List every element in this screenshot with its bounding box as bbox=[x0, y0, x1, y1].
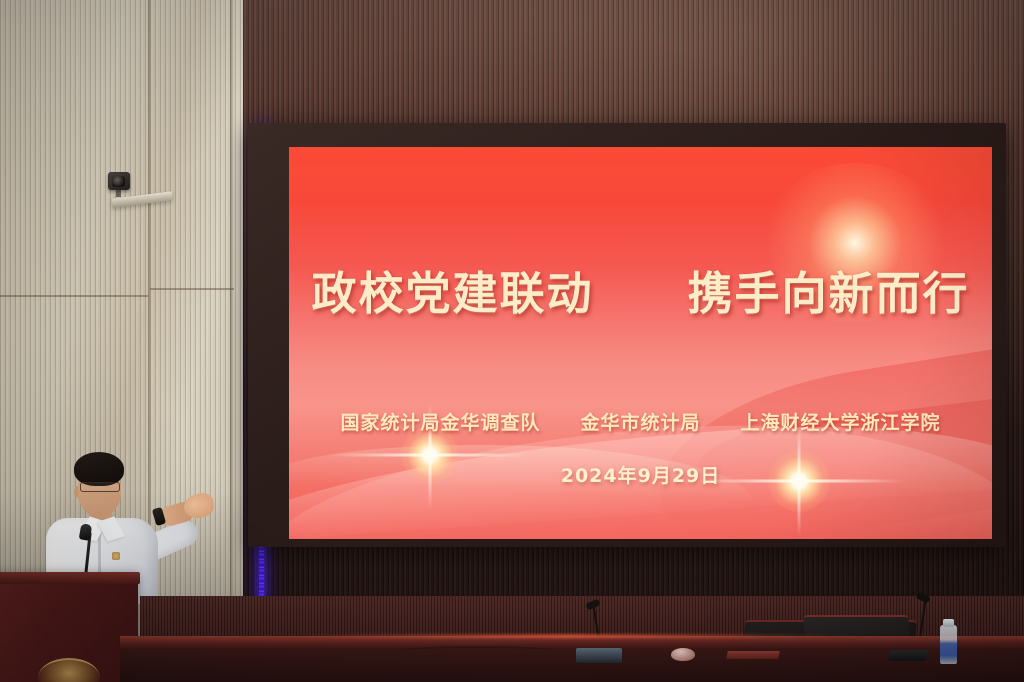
glasses-icon bbox=[80, 482, 120, 492]
wall-horizontal-seam-b bbox=[150, 288, 234, 290]
computer-mouse[interactable] bbox=[671, 648, 695, 661]
slide-background: 政校党建联动 携手向新而行 国家统计局金华调查队 金华市统计局 上海财经大学浙江… bbox=[289, 147, 992, 539]
podium-desktop-edge bbox=[0, 572, 140, 584]
led-presentation-screen[interactable]: 政校党建联动 携手向新而行 国家统计局金华调查队 金华市统计局 上海财经大学浙江… bbox=[248, 123, 1006, 547]
desk-edge-highlight bbox=[300, 634, 840, 638]
water-bottle bbox=[940, 625, 957, 664]
wall-panel-seam-right bbox=[230, 0, 233, 682]
slide-date: 2024年9月29日 bbox=[289, 461, 992, 488]
photo-scene: 政校党建联动 携手向新而行 国家统计局金华调查队 金华市统计局 上海财经大学浙江… bbox=[0, 0, 1024, 682]
slide-title: 政校党建联动 携手向新而行 bbox=[289, 257, 992, 322]
conference-microphone-base[interactable] bbox=[576, 648, 622, 663]
camera-lens-icon bbox=[112, 176, 125, 187]
presenter-hair bbox=[74, 452, 124, 486]
lapel-pin-icon bbox=[112, 552, 120, 560]
slide-organizations: 国家统计局金华调查队 金华市统计局 上海财经大学浙江学院 bbox=[289, 408, 992, 435]
wall-horizontal-seam-a bbox=[0, 295, 148, 297]
screen-display-area: 政校党建联动 携手向新而行 国家统计局金华调查队 金华市统计局 上海财经大学浙江… bbox=[289, 147, 992, 539]
mobile-phone[interactable] bbox=[888, 650, 928, 661]
desk-cable bbox=[398, 646, 558, 656]
desk-papers bbox=[726, 651, 779, 659]
camera-arm bbox=[116, 189, 121, 197]
water-bottle-cap bbox=[943, 619, 954, 627]
